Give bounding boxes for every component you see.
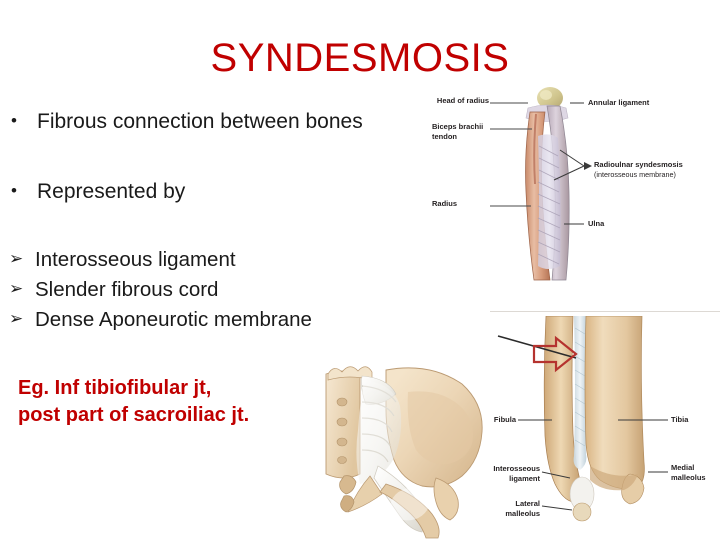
page-title: SYNDESMOSIS — [0, 36, 720, 81]
label-biceps-brachii-tendon-line2: tendon — [432, 132, 457, 141]
figure-pelvis-sacroiliac — [282, 358, 497, 539]
example-line-1: Eg. Inf tibiofibular jt, — [18, 375, 249, 402]
label-radius: Radius — [432, 199, 457, 208]
sub-bullet-item-dense-aponeurotic-membrane: ➢ Dense Aponeurotic membrane — [2, 308, 312, 332]
label-head-of-radius: Head of radius — [432, 96, 489, 105]
bullet-dot-icon: • — [2, 110, 37, 133]
sub-bullet-item-slender-fibrous-cord: ➢ Slender fibrous cord — [2, 278, 218, 302]
arrow-bullet-icon: ➢ — [2, 248, 35, 269]
sub-bullet-label: Slender fibrous cord — [35, 278, 218, 302]
label-medial-malleolus-line1: Medial — [671, 463, 694, 472]
label-annular-ligament: Annular ligament — [588, 98, 649, 107]
arrow-bullet-icon: ➢ — [2, 308, 35, 329]
bullet-item-fibrous-connection: • Fibrous connection between bones — [2, 110, 363, 134]
sub-bullet-label: Interosseous ligament — [35, 248, 236, 272]
bullet-dot-icon: • — [2, 180, 37, 203]
label-ulna: Ulna — [588, 219, 604, 228]
sub-bullet-label: Dense Aponeurotic membrane — [35, 308, 312, 332]
label-interosseous-membrane: (interosseous membrane) — [594, 170, 676, 179]
slide-canvas: SYNDESMOSIS • Fibrous connection between… — [0, 0, 720, 539]
sub-bullet-item-interosseous-ligament: ➢ Interosseous ligament — [2, 248, 236, 272]
panel-divider — [490, 311, 720, 312]
label-medial-malleolus-line2: malleolus — [671, 473, 706, 482]
label-tibia: Tibia — [671, 415, 688, 424]
bullet-item-represented-by: • Represented by — [2, 180, 185, 204]
pelvis-illustration — [282, 358, 497, 539]
forearm-illustration — [432, 84, 720, 284]
arrow-bullet-icon: ➢ — [2, 278, 35, 299]
label-radioulnar-syndesmosis: Radioulnar syndesmosis — [594, 160, 683, 169]
figure-forearm-radioulnar-syndesmosis: Head of radius Biceps brachii tendon Rad… — [432, 84, 720, 284]
bullet-label: Represented by — [37, 180, 185, 204]
figure-tibiofibular-syndesmosis: Fibula Tibia Interosseous ligament Media… — [490, 316, 720, 539]
example-line-2: post part of sacroiliac jt. — [18, 402, 249, 429]
label-biceps-brachii-tendon-line1: Biceps brachii — [432, 122, 483, 131]
example-text-block: Eg. Inf tibiofibular jt, post part of sa… — [18, 375, 249, 429]
bullet-label: Fibrous connection between bones — [37, 110, 363, 134]
